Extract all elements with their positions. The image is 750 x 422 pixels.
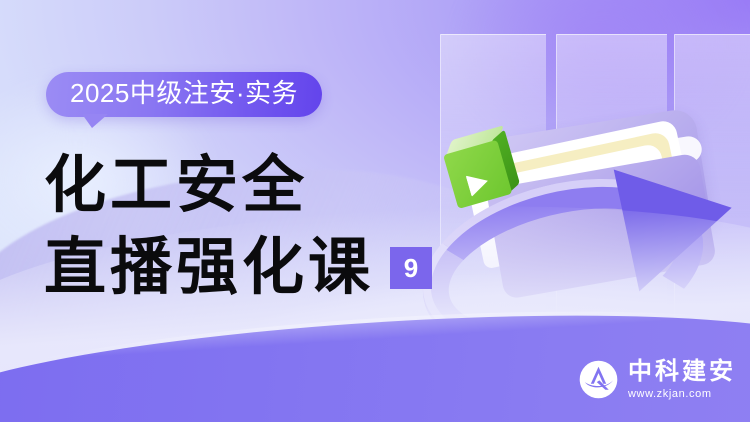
course-tag: 2025中级注安·实务 xyxy=(46,72,322,117)
episode-number-badge: 9 xyxy=(390,247,432,289)
brand-logo-text: 中科建安 www.zkjan.com xyxy=(628,360,736,400)
course-tag-label: 2025中级注安·实务 xyxy=(70,78,298,108)
zkjan-circle-mark-icon xyxy=(578,359,619,400)
course-tag-tail xyxy=(82,114,108,128)
course-tag-pill: 2025中级注安·实务 xyxy=(46,72,322,117)
headline-block: 化工安全 直播强化课 9 xyxy=(44,148,474,306)
brand-name: 中科建安 xyxy=(628,360,736,384)
headline-line-1-text: 化工安全 xyxy=(44,152,308,220)
course-promo-banner: 2025中级注安·实务 化工安全 直播强化课 9 中科建安 www.zkjan.… xyxy=(0,0,750,422)
brand-url: www.zkjan.com xyxy=(628,389,736,400)
headline-line-2: 直播强化课 9 xyxy=(44,230,474,306)
headline-line-2-text: 直播强化课 xyxy=(44,230,374,306)
headline-line-2-row: 直播强化课 9 xyxy=(44,230,474,306)
brand-logo: 中科建安 www.zkjan.com xyxy=(578,359,736,400)
headline-line-1: 化工安全 xyxy=(44,148,474,224)
